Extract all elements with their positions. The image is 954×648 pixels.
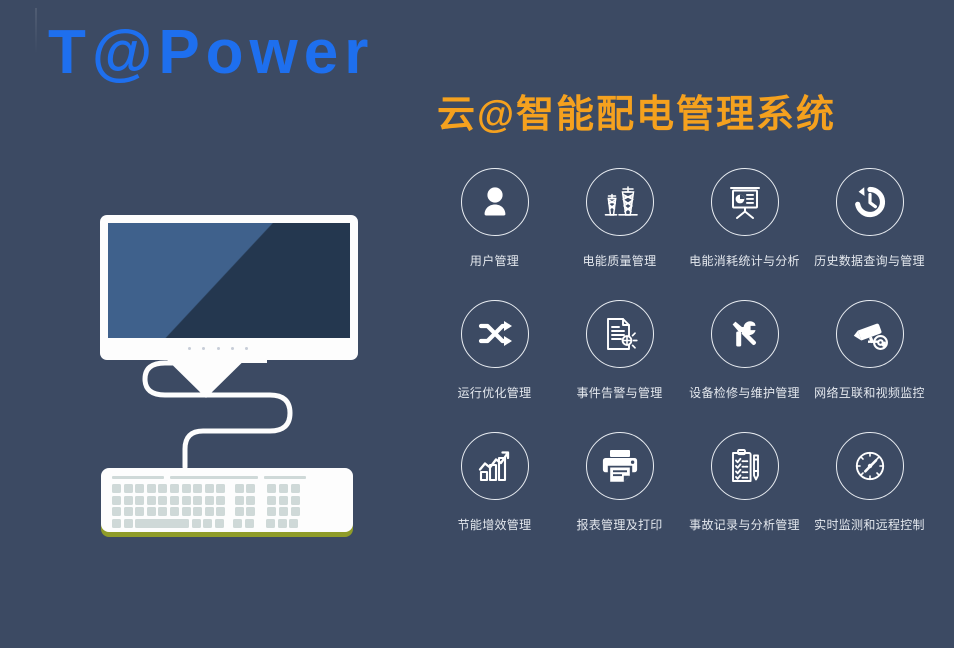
- feature-label: 运行优化管理: [458, 384, 532, 401]
- monitor-screen: [108, 223, 350, 338]
- feature-item-power-quality[interactable]: 电能质量管理: [557, 168, 682, 269]
- security-camera-icon: [836, 300, 904, 368]
- feature-item-report-print[interactable]: 报表管理及打印: [557, 432, 682, 533]
- feature-item-equipment-maintenance[interactable]: 设备检修与维护管理: [682, 300, 807, 401]
- page-title: T@Power: [48, 22, 374, 84]
- feature-item-consumption-analysis[interactable]: 电能消耗统计与分析: [682, 168, 807, 269]
- page-subtitle: 云@智能配电管理系统: [437, 96, 836, 134]
- keyboard-row: [112, 507, 344, 516]
- feature-item-user-management[interactable]: 用户管理: [432, 168, 557, 269]
- feature-label: 电能消耗统计与分析: [689, 252, 800, 269]
- power-tower-icon: [586, 168, 654, 236]
- poster-canvas: T@Power 云@智能配电管理系统: [0, 0, 954, 648]
- keyboard-function-strip: [112, 476, 342, 479]
- feature-label: 电能质量管理: [583, 252, 657, 269]
- feature-grid: 用户管理: [432, 168, 932, 533]
- keyboard-row: [112, 496, 344, 505]
- feature-item-operation-optimization[interactable]: 运行优化管理: [432, 300, 557, 401]
- feature-label: 网络互联和视频监控: [814, 384, 925, 401]
- growth-chart-icon: [461, 432, 529, 500]
- clipboard-checklist-icon: [711, 432, 779, 500]
- feature-label: 设备检修与维护管理: [689, 384, 800, 401]
- printer-icon: [586, 432, 654, 500]
- feature-label: 历史数据查询与管理: [814, 252, 925, 269]
- keyboard-key-rows: [112, 484, 344, 530]
- feature-item-realtime-monitor[interactable]: 实时监测和远程控制: [807, 432, 932, 533]
- feature-item-event-alarm[interactable]: 事件告警与管理: [557, 300, 682, 401]
- feature-label: 实时监测和远程控制: [814, 516, 925, 533]
- monitor-bezel: [100, 215, 358, 360]
- keyboard-row: [112, 484, 344, 493]
- desktop-computer-illustration: [85, 215, 385, 545]
- feature-label: 报表管理及打印: [576, 516, 662, 533]
- tools-wrench-icon: [711, 300, 779, 368]
- keyboard-row: [112, 519, 344, 528]
- feature-item-history-data[interactable]: 历史数据查询与管理: [807, 168, 932, 269]
- feature-item-network-video-monitor[interactable]: 网络互联和视频监控: [807, 300, 932, 401]
- feature-label: 事故记录与分析管理: [689, 516, 800, 533]
- user-icon: [461, 168, 529, 236]
- shuffle-arrows-icon: [461, 300, 529, 368]
- feature-item-energy-saving[interactable]: 节能增效管理: [432, 432, 557, 533]
- document-alert-icon: [586, 300, 654, 368]
- monitor-cable: [85, 345, 385, 475]
- history-clock-icon: [836, 168, 904, 236]
- gauge-meter-icon: [836, 432, 904, 500]
- feature-label: 节能增效管理: [458, 516, 532, 533]
- presentation-chart-icon: [711, 168, 779, 236]
- keyboard: [101, 468, 353, 532]
- feature-label: 用户管理: [470, 252, 519, 269]
- feature-label: 事件告警与管理: [576, 384, 662, 401]
- decorative-edge-line: [35, 8, 37, 54]
- feature-item-accident-record[interactable]: 事故记录与分析管理: [682, 432, 807, 533]
